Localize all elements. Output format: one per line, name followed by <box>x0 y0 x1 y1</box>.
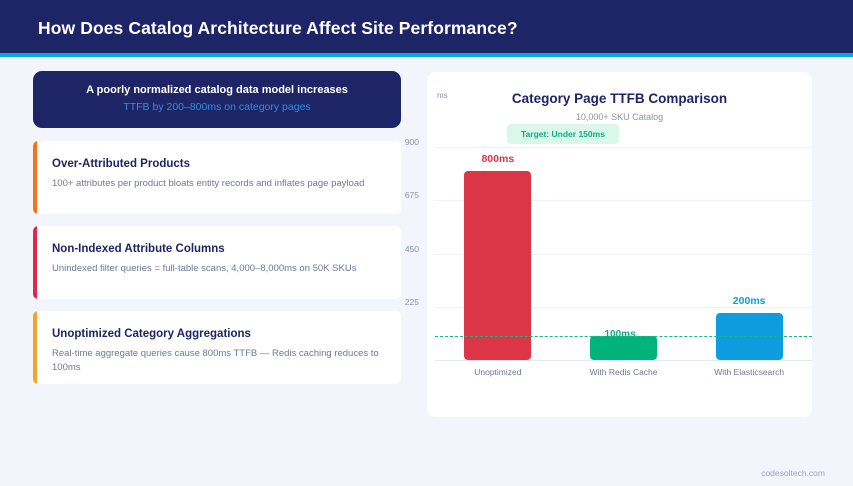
card-description: Unindexed filter queries = full-table sc… <box>52 262 385 276</box>
chart-x-tick-label: With Elasticsearch <box>689 367 809 377</box>
chart-x-tick-label: Unoptimized <box>438 367 558 377</box>
card-description: Real-time aggregate queries cause 800ms … <box>52 347 385 375</box>
page-title: How Does Catalog Architecture Affect Sit… <box>38 18 518 39</box>
card-title: Over-Attributed Products <box>52 156 385 172</box>
chart-y-tick-label-675: 675 <box>389 190 419 200</box>
chart-y-tick-label-900: 900 <box>389 137 419 147</box>
card-title: Unoptimized Category Aggregations <box>52 326 385 342</box>
chart-axis-baseline <box>435 360 812 361</box>
chart-target-badge: Target: Under 150ms <box>507 124 619 144</box>
insight-card-over-attributed-products[interactable]: Over-Attributed Products 100+ attributes… <box>33 141 401 214</box>
card-title: Non-Indexed Attribute Columns <box>52 241 385 257</box>
chart-x-tick-label: With Redis Cache <box>564 367 684 377</box>
chart-bar-value-label: 800ms <box>448 153 548 165</box>
card-description: 100+ attributes per product bloats entit… <box>52 177 385 191</box>
card-accent-bar <box>33 311 37 384</box>
callout-primary-text: A poorly normalized catalog data model i… <box>47 83 387 98</box>
card-accent-bar <box>33 141 37 214</box>
chart-target-line-label: 100ms <box>602 329 639 340</box>
callout-box: A poorly normalized catalog data model i… <box>33 71 401 128</box>
callout-secondary-text: TTFB by 200–800ms on category pages <box>47 100 387 115</box>
chart-gridline <box>435 147 812 148</box>
insights-column: A poorly normalized catalog data model i… <box>33 71 401 396</box>
chart-bar-unoptimized[interactable] <box>464 171 531 360</box>
page-header: How Does Catalog Architecture Affect Sit… <box>0 0 853 57</box>
chart-plot-area: 800msUnoptimizedWith Redis Cache200msWit… <box>427 72 812 417</box>
chart-panel: ms Category Page TTFB Comparison 10,000+… <box>427 72 812 417</box>
chart-y-tick-label-450: 450 <box>389 244 419 254</box>
header-accent-stripe <box>0 53 853 57</box>
card-accent-bar <box>33 226 37 299</box>
insight-card-non-indexed-attribute-columns[interactable]: Non-Indexed Attribute Columns Unindexed … <box>33 226 401 299</box>
insight-card-unoptimized-category-aggregations[interactable]: Unoptimized Category Aggregations Real-t… <box>33 311 401 384</box>
watermark: codesoltech.com <box>761 468 825 478</box>
chart-y-tick-label-225: 225 <box>389 297 419 307</box>
chart-bar-value-label: 200ms <box>699 295 799 307</box>
